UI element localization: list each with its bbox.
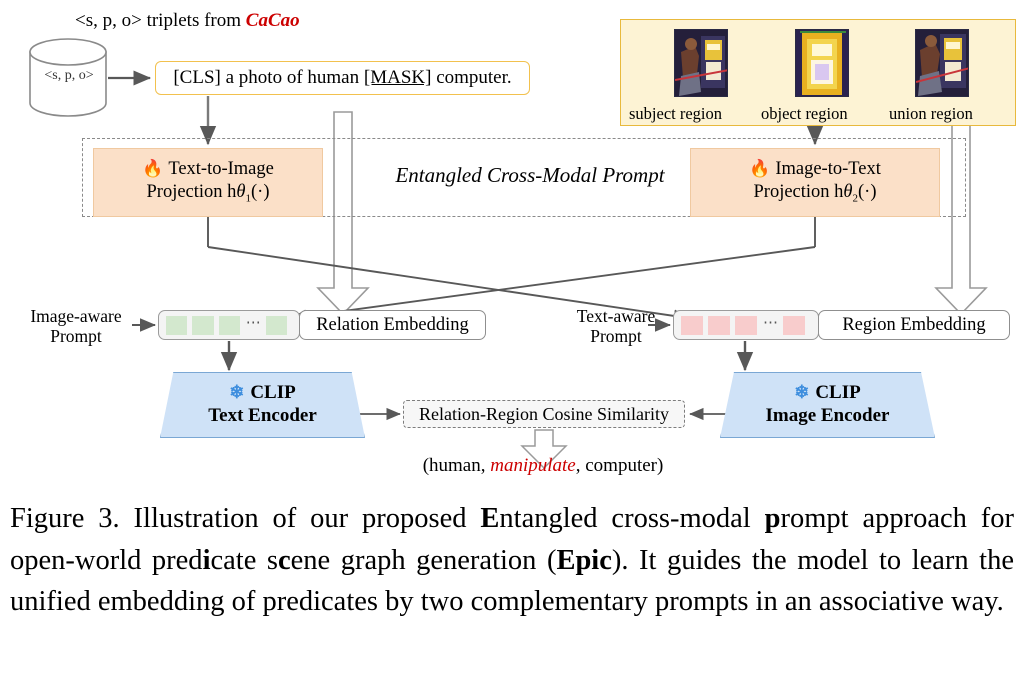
snowflake-icon: ❄ — [229, 382, 244, 402]
image-to-text-projection-box[interactable]: 🔥Image-to-Text Projection hθ2(·) — [690, 148, 940, 217]
image-to-text-label: Image-to-Text — [775, 159, 881, 179]
predicate-result: manipulate — [490, 455, 576, 476]
token-ellipsis: ⋯ — [763, 313, 779, 332]
cacao-dataset-name: CaCao — [246, 10, 300, 31]
token-cell — [735, 316, 757, 335]
subject-region-label: subject region — [629, 104, 722, 124]
text-to-image-label: Text-to-Image — [168, 159, 274, 179]
figure-caption: Figure 3. Illustration of our proposed E… — [10, 498, 1014, 623]
object-region-label: object region — [761, 104, 848, 124]
union-region-label: union region — [889, 104, 973, 124]
text-aware-token-strip: ⋯ — [673, 310, 819, 340]
token-cell — [192, 316, 213, 335]
image-aware-prompt-label: Image-aware Prompt — [12, 306, 140, 346]
token-cell — [219, 316, 240, 335]
relation-embedding-box: Relation Embedding — [299, 310, 486, 340]
text-to-image-projection-box[interactable]: 🔥Text-to-Image Projection hθ1(·) — [93, 148, 323, 217]
region-embedding-box: Region Embedding — [818, 310, 1010, 340]
triplet-source-label: <s, p, o> triplets from CaCao — [75, 10, 300, 32]
image-regions-panel: subject region object region union regio… — [620, 19, 1016, 126]
image-aware-token-strip: ⋯ — [158, 310, 300, 340]
token-cell — [783, 316, 805, 335]
token-cell — [708, 316, 730, 335]
database-label: <s, p, o> — [30, 68, 108, 84]
token-cell — [266, 316, 287, 335]
figure-diagram: <s, p, o> triplets from CaCao <s, p, o> … — [0, 0, 1024, 490]
token-cell — [681, 316, 703, 335]
fire-icon: 🔥 — [142, 159, 163, 178]
prompt-text: [CLS] a photo of human [MASK] computer. — [173, 67, 511, 89]
mask-token: [MASK] — [364, 67, 432, 88]
clip-image-encoder[interactable]: ❄CLIP Image Encoder — [720, 372, 935, 438]
subject-region-thumbnail — [674, 29, 728, 97]
image-to-text-formula: Projection hθ2(·) — [749, 181, 881, 206]
text-prompt-box[interactable]: [CLS] a photo of human [MASK] computer. — [155, 61, 530, 95]
fire-icon: 🔥 — [749, 159, 770, 178]
snowflake-icon: ❄ — [794, 382, 809, 402]
cosine-similarity-box: Relation-Region Cosine Similarity — [403, 400, 685, 428]
entangled-cross-modal-prompt-title: Entangled Cross-Modal Prompt — [380, 163, 680, 188]
object-region-thumbnail — [795, 29, 849, 97]
text-to-image-formula: Projection hθ1(·) — [142, 181, 274, 206]
union-region-thumbnail — [915, 29, 969, 97]
text-aware-prompt-label: Text-aware Prompt — [560, 306, 672, 346]
clip-text-encoder[interactable]: ❄CLIP Text Encoder — [160, 372, 365, 438]
output-triplet: (human, manipulate, computer) — [393, 455, 693, 477]
token-ellipsis: ⋯ — [246, 313, 262, 332]
token-cell — [166, 316, 187, 335]
